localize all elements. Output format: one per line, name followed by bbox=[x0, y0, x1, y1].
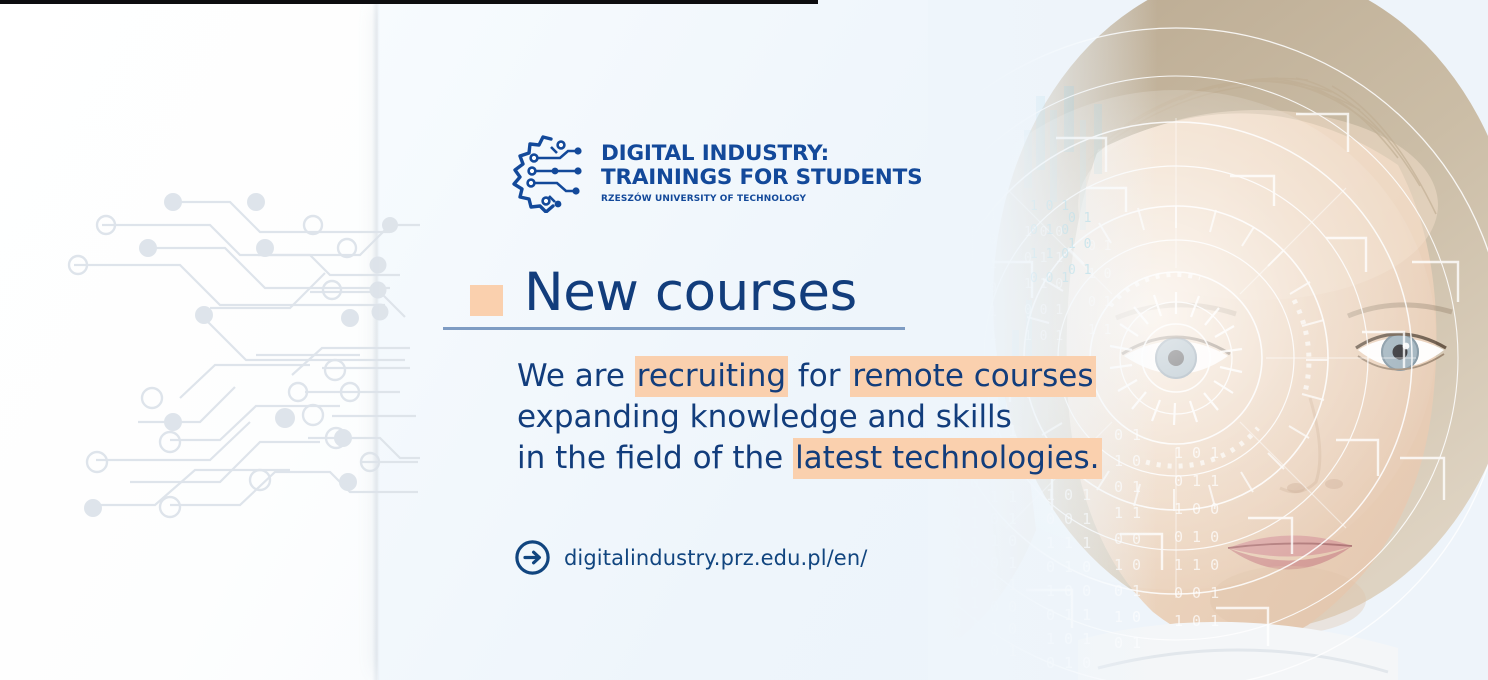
body-line-1: We are recruiting for remote courses bbox=[517, 356, 1102, 397]
page-title: New courses bbox=[524, 266, 857, 319]
logo-line-2: TRAININGS FOR STUDENTS bbox=[601, 167, 922, 189]
banner-content: DIGITAL INDUSTRY: TRAININGS FOR STUDENTS… bbox=[0, 0, 1488, 680]
body-line-3-highlight-latest-technologies: latest technologies. bbox=[793, 438, 1101, 479]
body-line-2: expanding knowledge and skills bbox=[517, 397, 1102, 438]
body-line-3-part1: in the field of the bbox=[517, 440, 793, 476]
body-line-3: in the field of the latest technologies. bbox=[517, 438, 1102, 479]
website-link[interactable]: digitalindustry.prz.edu.pl/en/ bbox=[514, 539, 867, 576]
gear-circuit-logo-icon bbox=[505, 133, 589, 213]
body-copy: We are recruiting for remote courses exp… bbox=[517, 356, 1102, 479]
body-line-1-highlight-remote-courses: remote courses bbox=[850, 356, 1095, 397]
top-black-bar bbox=[0, 0, 818, 4]
project-logo[interactable]: DIGITAL INDUSTRY: TRAININGS FOR STUDENTS… bbox=[505, 133, 922, 213]
body-line-1-part1: We are bbox=[517, 358, 635, 394]
promotional-banner: 1 0 10 1 0 1 1 00 0 1 1 0 10 1 1 1 0 00 … bbox=[0, 0, 1488, 680]
logo-line-1: DIGITAL INDUSTRY: bbox=[601, 143, 922, 165]
title-divider-rule bbox=[443, 327, 905, 330]
headline-row: New courses bbox=[470, 266, 857, 319]
website-url-text[interactable]: digitalindustry.prz.edu.pl/en/ bbox=[564, 546, 867, 570]
arrow-right-circle-icon[interactable] bbox=[514, 539, 551, 576]
square-bullet-icon bbox=[470, 285, 503, 316]
logo-text-block: DIGITAL INDUSTRY: TRAININGS FOR STUDENTS… bbox=[601, 143, 922, 203]
body-line-1-highlight-recruiting: recruiting bbox=[635, 356, 788, 397]
body-line-1-part2: for bbox=[788, 358, 850, 394]
logo-line-3-university: RZESZÓW UNIVERSITY OF TECHNOLOGY bbox=[601, 194, 913, 203]
